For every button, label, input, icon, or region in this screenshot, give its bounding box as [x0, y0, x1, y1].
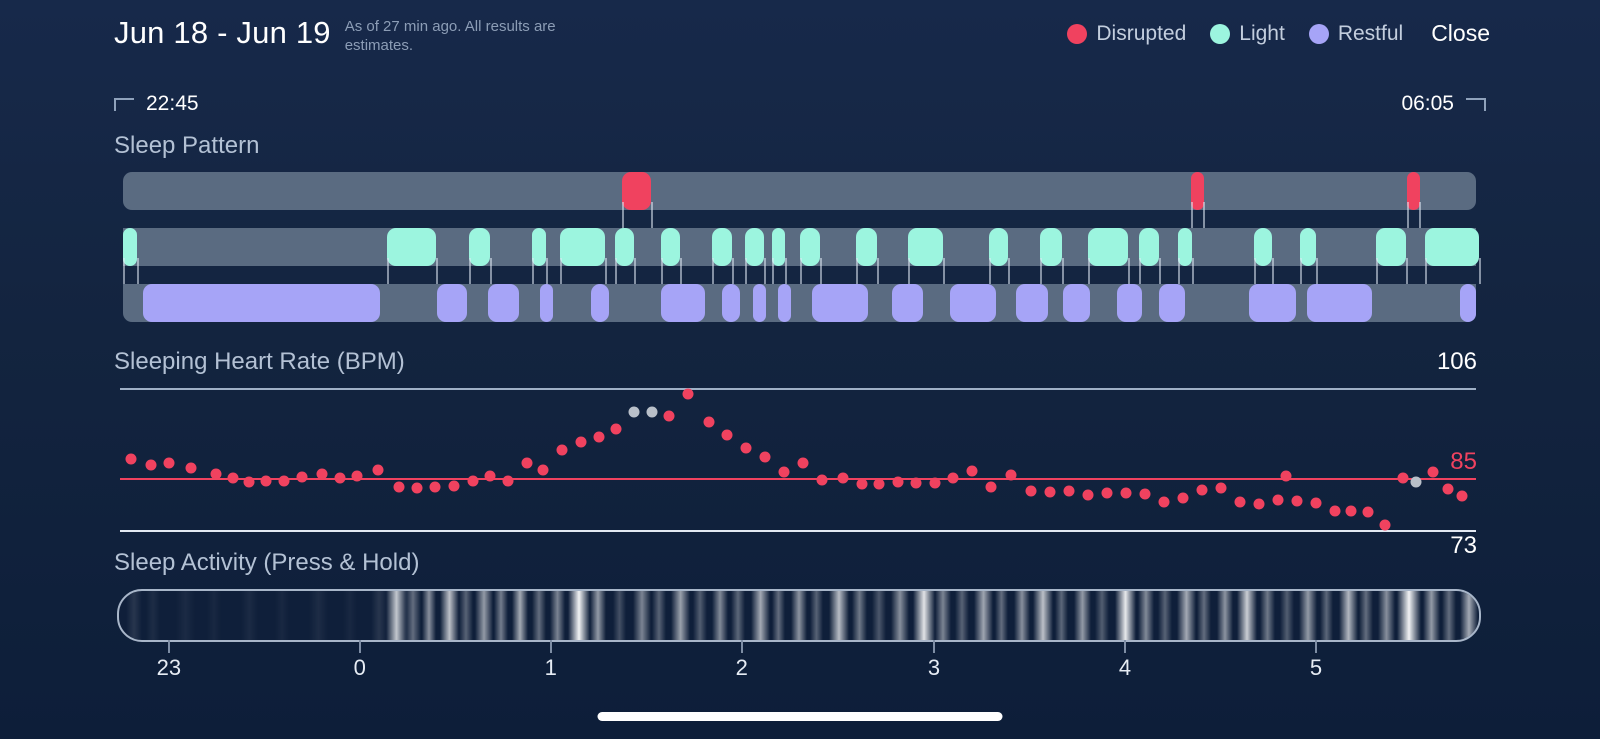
- hr-point: [467, 475, 478, 486]
- pattern-connector: [989, 258, 991, 284]
- pattern-connector: [1178, 258, 1180, 284]
- hr-point: [1235, 497, 1246, 508]
- axis-tick: [741, 640, 743, 653]
- circle-icon: [1067, 24, 1087, 44]
- activity-stripe: [652, 591, 666, 640]
- pattern-segment-light: [1425, 228, 1479, 266]
- activity-stripe: [1095, 591, 1109, 640]
- activity-stripe: [1378, 591, 1394, 640]
- activity-stripe: [1074, 591, 1092, 640]
- hr-point-highlight: [646, 406, 657, 417]
- pattern-segment-restful: [488, 284, 519, 322]
- pattern-connector: [877, 258, 879, 284]
- pattern-segment-light: [908, 228, 943, 266]
- activity-stripe: [751, 591, 770, 640]
- hr-point: [664, 410, 675, 421]
- pattern-connector: [634, 258, 636, 284]
- activity-stripe: [176, 591, 195, 640]
- hr-point: [411, 482, 422, 493]
- hr-point: [243, 476, 254, 487]
- hr-point: [910, 477, 921, 488]
- hr-point: [1140, 488, 1151, 499]
- pattern-connector: [1407, 202, 1409, 228]
- activity-stripe: [1055, 591, 1069, 640]
- pattern-connector: [123, 258, 125, 284]
- pattern-connector: [1300, 258, 1302, 284]
- pattern-segment-restful: [591, 284, 609, 322]
- activity-stripe: [1397, 591, 1420, 640]
- pattern-segment-light: [745, 228, 764, 266]
- pattern-segment-light: [387, 228, 436, 266]
- pattern-connector: [1139, 258, 1141, 284]
- pattern-segment-light: [800, 228, 820, 266]
- activity-stripe: [440, 591, 459, 640]
- pattern-segment-light: [469, 228, 489, 266]
- activity-stripe: [1339, 591, 1358, 640]
- pattern-segment-disrupted: [622, 172, 650, 210]
- hr-axis-label-85: 85: [1450, 448, 1477, 476]
- pattern-connector: [680, 258, 682, 284]
- hr-point: [429, 481, 440, 492]
- hr-point: [1178, 492, 1189, 503]
- pattern-connector: [1203, 202, 1205, 228]
- activity-stripe: [671, 591, 690, 640]
- activity-stripe: [1460, 591, 1478, 640]
- axis-tick-label: 4: [1119, 655, 1131, 681]
- activity-stripe: [422, 591, 436, 640]
- pattern-segment-restful: [1249, 284, 1296, 322]
- hr-point: [1281, 471, 1292, 482]
- activity-stripe: [207, 591, 221, 640]
- activity-stripe: [613, 591, 627, 640]
- pattern-segment-restful: [778, 284, 791, 322]
- activity-stripe: [935, 591, 951, 640]
- activity-stripe: [1033, 591, 1053, 640]
- pattern-connector: [490, 258, 492, 284]
- hr-point: [1397, 472, 1408, 483]
- activity-stripe: [343, 591, 357, 640]
- hr-gridline-106: [120, 388, 1476, 390]
- activity-stripe: [550, 591, 565, 640]
- activity-stripe: [1280, 591, 1294, 640]
- pattern-connector: [622, 202, 624, 228]
- hr-point: [146, 460, 157, 471]
- pattern-connector: [469, 258, 471, 284]
- pattern-connector: [820, 258, 822, 284]
- activity-axis: 23012345: [117, 640, 1481, 682]
- activity-stripe: [126, 591, 142, 640]
- activity-stripe: [1237, 591, 1257, 640]
- pattern-connector: [560, 258, 562, 284]
- hr-point: [1064, 486, 1075, 497]
- activity-stripe: [1158, 591, 1172, 640]
- axis-tick: [933, 640, 935, 653]
- activity-stripe: [872, 591, 886, 640]
- activity-stripe: [1197, 591, 1211, 640]
- time-rail: 22:45 06:05: [114, 92, 1486, 122]
- pattern-segment-light: [1040, 228, 1062, 266]
- hr-point: [211, 469, 222, 480]
- hr-point: [1102, 487, 1113, 498]
- pattern-connector: [605, 258, 607, 284]
- pattern-segment-light: [989, 228, 1008, 266]
- activity-stripe: [494, 591, 508, 640]
- activity-stripe: [1260, 591, 1275, 640]
- pattern-segment-restful: [753, 284, 766, 322]
- activity-stripe: [309, 591, 328, 640]
- activity-stripe: [1177, 591, 1196, 640]
- sleep-activity-heading: Sleep Activity (Press & Hold): [114, 549, 419, 577]
- heart-rate-chart[interactable]: 1068573: [120, 388, 1476, 530]
- activity-stripe: [1442, 591, 1456, 640]
- pattern-connector: [1008, 258, 1010, 284]
- hr-point: [611, 423, 622, 434]
- pattern-connector: [1376, 258, 1378, 284]
- pattern-connector: [1479, 258, 1481, 284]
- activity-stripe: [913, 591, 935, 640]
- pattern-segment-light: [1300, 228, 1316, 266]
- pattern-segment-light: [1376, 228, 1406, 266]
- hr-point: [296, 471, 307, 482]
- hr-point: [1005, 469, 1016, 480]
- hr-point: [985, 481, 996, 492]
- activity-stripe: [275, 591, 289, 640]
- pattern-segment-light: [123, 228, 137, 266]
- pattern-segment-restful: [143, 284, 380, 322]
- pattern-connector: [943, 258, 945, 284]
- activity-stripe: [974, 591, 993, 640]
- activity-stripe: [791, 591, 807, 640]
- hr-point: [1254, 499, 1265, 510]
- pattern-connector: [387, 258, 389, 284]
- hr-point: [372, 464, 383, 475]
- pattern-segment-light: [856, 228, 876, 266]
- hr-point: [1083, 489, 1094, 500]
- activity-stripe: [1320, 591, 1334, 640]
- hr-point: [1380, 519, 1391, 530]
- legend-label: Restful: [1338, 22, 1403, 46]
- legend-item-light: Light: [1210, 22, 1285, 46]
- hr-point: [485, 470, 496, 481]
- corner-bracket-left-icon: [114, 98, 134, 111]
- hr-point: [557, 445, 568, 456]
- axis-tick-label: 3: [928, 655, 940, 681]
- hr-point: [394, 481, 405, 492]
- hr-point: [1427, 466, 1438, 477]
- axis-tick-label: 1: [545, 655, 557, 681]
- pattern-connector: [546, 258, 548, 284]
- pattern-segment-restful: [1117, 284, 1141, 322]
- pattern-segment-restful: [437, 284, 467, 322]
- activity-stripe: [475, 591, 493, 640]
- hr-point: [317, 469, 328, 480]
- pattern-segment-restful: [950, 284, 996, 322]
- sleep-activity-bar[interactable]: [117, 589, 1481, 642]
- page-title: Jun 18 - Jun 19: [114, 14, 331, 53]
- hr-point: [856, 478, 867, 489]
- hr-point: [125, 454, 136, 465]
- pattern-segment-restful: [661, 284, 704, 322]
- pattern-segment-light: [1088, 228, 1129, 266]
- pattern-connector: [785, 258, 787, 284]
- pattern-connector: [1254, 258, 1256, 284]
- activity-stripe: [1217, 591, 1233, 640]
- pattern-connector: [1128, 258, 1130, 284]
- hr-point: [741, 443, 752, 454]
- start-time-label: 22:45: [146, 92, 199, 116]
- hr-point: [163, 458, 174, 469]
- pattern-connector: [661, 258, 663, 284]
- activity-stripe: [772, 591, 786, 640]
- legend-label: Light: [1239, 22, 1285, 46]
- pattern-connector: [1159, 258, 1161, 284]
- activity-stripe: [1359, 591, 1373, 640]
- hr-point: [538, 464, 549, 475]
- hr-point: [1045, 487, 1056, 498]
- pattern-connector: [1192, 258, 1194, 284]
- activity-stripe: [891, 591, 909, 640]
- hr-point: [779, 466, 790, 477]
- home-indicator[interactable]: [598, 712, 1003, 721]
- pattern-segment-restful: [892, 284, 923, 322]
- heart-rate-heading: Sleeping Heart Rate (BPM): [114, 348, 405, 376]
- hr-point: [261, 476, 272, 487]
- pattern-connector: [1425, 258, 1427, 284]
- sleep-start-time: 22:45: [114, 92, 199, 116]
- activity-stripe: [955, 591, 969, 640]
- pattern-connector: [651, 202, 653, 228]
- legend-label: Disrupted: [1096, 22, 1186, 46]
- hr-point-highlight: [628, 406, 639, 417]
- hr-point: [837, 473, 848, 484]
- legend-item-restful: Restful: [1309, 22, 1403, 46]
- pattern-segment-restful: [812, 284, 869, 322]
- hr-gridline-73: [120, 530, 1476, 532]
- hr-point: [352, 471, 363, 482]
- activity-stripe: [995, 591, 1009, 640]
- pattern-segment-light: [1139, 228, 1159, 266]
- pattern-connector: [1316, 258, 1318, 284]
- legend-item-disrupted: Disrupted: [1067, 22, 1186, 46]
- pattern-connector: [712, 258, 714, 284]
- hr-point: [798, 458, 809, 469]
- axis-tick: [1315, 640, 1317, 653]
- pattern-connector: [856, 258, 858, 284]
- circle-icon: [1309, 24, 1329, 44]
- hr-point: [966, 465, 977, 476]
- hr-point: [947, 473, 958, 484]
- pattern-segment-restful: [1307, 284, 1372, 322]
- hr-point: [1197, 485, 1208, 496]
- pattern-connector: [908, 258, 910, 284]
- pattern-segment-restful: [1016, 284, 1048, 322]
- pattern-connector: [436, 258, 438, 284]
- legend: DisruptedLightRestfulClose: [1067, 20, 1490, 47]
- pattern-connector: [1191, 202, 1193, 228]
- activity-stripe: [459, 591, 473, 640]
- page-subtitle: As of 27 min ago. All results are estima…: [345, 14, 615, 56]
- pattern-connector: [615, 258, 617, 284]
- hr-point: [1159, 497, 1170, 508]
- hr-point: [1457, 490, 1468, 501]
- pattern-connector: [800, 258, 802, 284]
- hr-point: [1292, 495, 1303, 506]
- hr-point: [279, 475, 290, 486]
- activity-stripe: [1138, 591, 1154, 640]
- circle-icon: [1210, 24, 1230, 44]
- hr-point: [1121, 488, 1132, 499]
- corner-bracket-right-icon: [1466, 98, 1486, 111]
- activity-stripe: [146, 591, 160, 640]
- hr-point: [703, 417, 714, 428]
- hr-point: [1310, 498, 1321, 509]
- hr-point: [1273, 494, 1284, 505]
- hr-point: [1329, 505, 1340, 516]
- pattern-segment-light: [712, 228, 732, 266]
- hr-point: [929, 478, 940, 489]
- pattern-segment-restful: [1460, 284, 1476, 322]
- hr-point: [722, 430, 733, 441]
- hr-point: [1026, 486, 1037, 497]
- hr-point-highlight: [1411, 476, 1422, 487]
- axis-tick-label: 5: [1310, 655, 1322, 681]
- pattern-connector: [137, 258, 139, 284]
- hr-point: [874, 478, 885, 489]
- pattern-connector: [732, 258, 734, 284]
- hr-point: [448, 481, 459, 492]
- pattern-connector: [1040, 258, 1042, 284]
- header: Jun 18 - Jun 19 As of 27 min ago. All re…: [114, 14, 1490, 70]
- hr-axis-label-73: 73: [1450, 532, 1477, 560]
- pattern-segment-light: [615, 228, 634, 266]
- pattern-segment-restful: [1159, 284, 1185, 322]
- sleep-pattern-chart[interactable]: [123, 172, 1476, 324]
- pattern-segment-light: [661, 228, 680, 266]
- hr-point: [334, 472, 345, 483]
- hr-point: [893, 476, 904, 487]
- activity-stripe: [568, 591, 590, 640]
- hr-point: [1346, 506, 1357, 517]
- pattern-connector: [1419, 202, 1421, 228]
- activity-stripe: [371, 591, 387, 640]
- pattern-segment-restful: [540, 284, 554, 322]
- activity-stripe: [1423, 591, 1439, 640]
- hr-point: [760, 451, 771, 462]
- pattern-connector: [764, 258, 766, 284]
- pattern-connector: [1406, 258, 1408, 284]
- axis-tick: [1124, 640, 1126, 653]
- pattern-segment-light: [560, 228, 605, 266]
- hr-axis-label-106: 106: [1437, 348, 1477, 376]
- axis-tick-label: 23: [157, 655, 181, 681]
- hr-point: [1442, 484, 1453, 495]
- pattern-segment-light: [532, 228, 547, 266]
- axis-tick-label: 2: [736, 655, 748, 681]
- activity-stripe: [731, 591, 745, 640]
- hr-point: [593, 432, 604, 443]
- hr-point: [185, 462, 196, 473]
- sleep-end-time: 06:05: [1401, 92, 1486, 116]
- hr-point: [817, 474, 828, 485]
- activity-stripe: [241, 591, 257, 640]
- activity-stripe: [1115, 591, 1137, 640]
- axis-tick-label: 0: [354, 655, 366, 681]
- sleep-detail-screen: Jun 18 - Jun 19 As of 27 min ago. All re…: [0, 0, 1600, 739]
- axis-tick: [550, 640, 552, 653]
- axis-tick: [168, 640, 170, 653]
- pattern-connector: [1272, 258, 1274, 284]
- pattern-track-restful: [123, 284, 1476, 322]
- hr-point: [521, 458, 532, 469]
- activity-stripe: [1299, 591, 1317, 640]
- hr-point: [576, 436, 587, 447]
- pattern-connector: [1088, 258, 1090, 284]
- pattern-segment-restful: [722, 284, 740, 322]
- pattern-segment-restful: [1063, 284, 1090, 322]
- activity-stripe: [532, 591, 546, 640]
- activity-stripe: [693, 591, 707, 640]
- activity-stripe: [405, 591, 421, 640]
- pattern-segment-light: [1254, 228, 1272, 266]
- close-button[interactable]: Close: [1431, 20, 1490, 47]
- hr-point: [1216, 482, 1227, 493]
- pattern-connector: [772, 258, 774, 284]
- hr-point: [1362, 506, 1373, 517]
- activity-stripe: [512, 591, 528, 640]
- pattern-track-disrupted: [123, 172, 1476, 210]
- activity-stripe: [633, 591, 651, 640]
- pattern-connector: [745, 258, 747, 284]
- pattern-connector: [1062, 258, 1064, 284]
- pattern-segment-light: [1178, 228, 1192, 266]
- activity-stripe: [852, 591, 867, 640]
- activity-stripe: [829, 591, 849, 640]
- axis-tick: [359, 640, 361, 653]
- end-time-label: 06:05: [1401, 92, 1454, 116]
- activity-stripe: [590, 591, 606, 640]
- activity-stripe: [810, 591, 824, 640]
- hr-point: [502, 475, 513, 486]
- hr-point: [227, 472, 238, 483]
- pattern-connector: [532, 258, 534, 284]
- activity-stripe: [712, 591, 728, 640]
- activity-stripe: [1014, 591, 1030, 640]
- hr-point: [683, 389, 694, 400]
- sleep-pattern-heading: Sleep Pattern: [114, 132, 259, 160]
